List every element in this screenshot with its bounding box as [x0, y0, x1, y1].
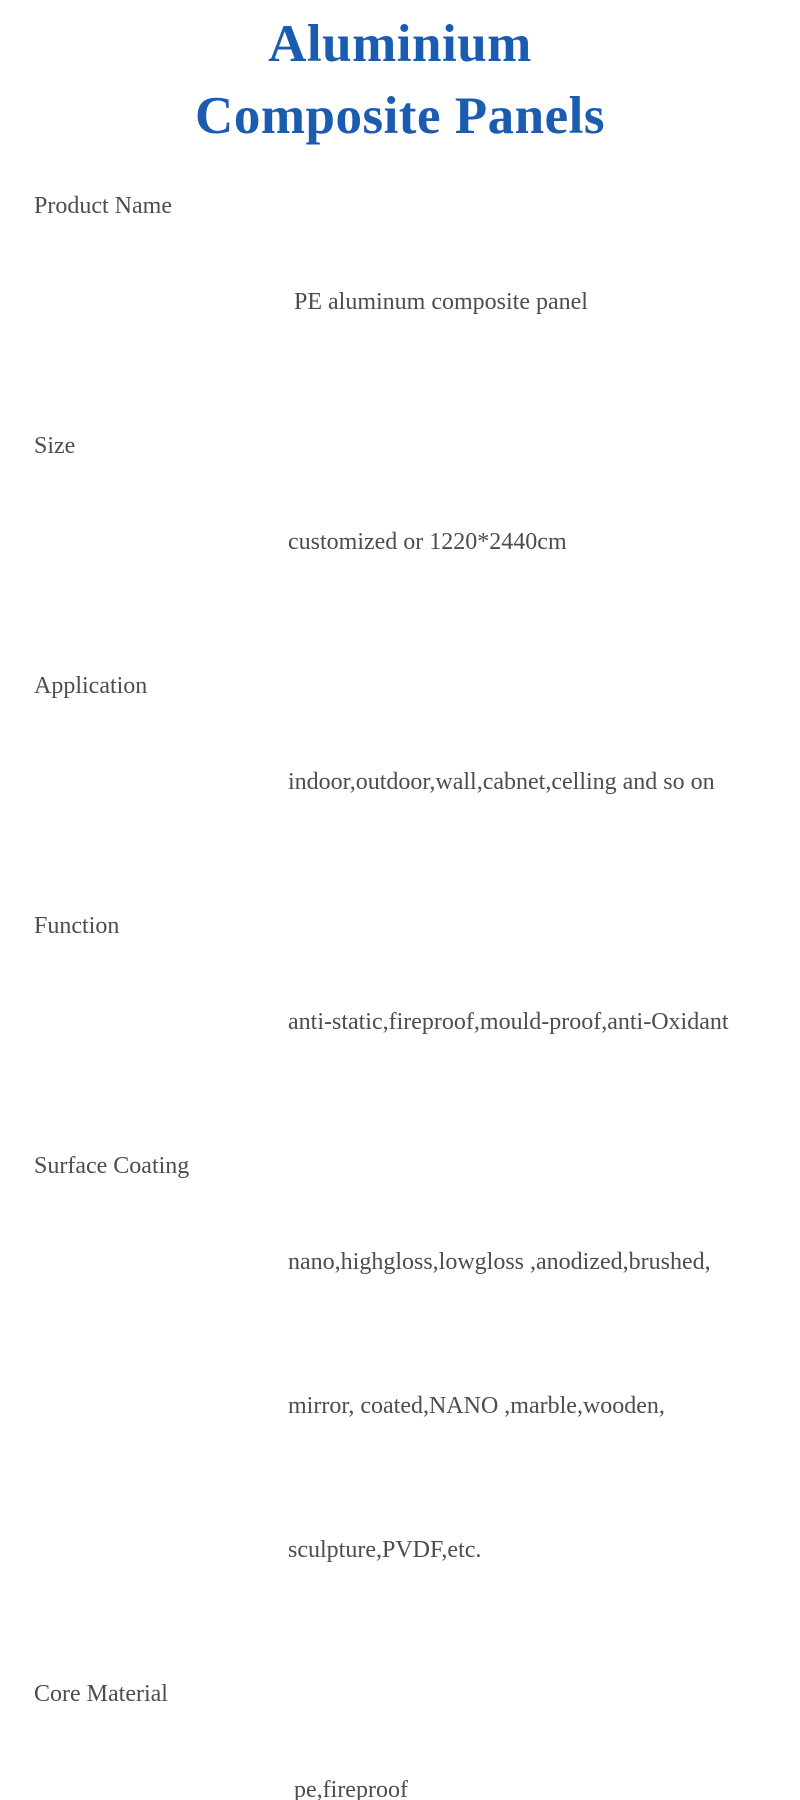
page-title-line-2: Composite Panels: [0, 80, 800, 152]
spec-label: Product Name: [0, 182, 288, 422]
spec-row: Application indoor,outdoor,wall,cabnet,c…: [0, 662, 800, 902]
spec-value: PE aluminum composite panel: [288, 182, 800, 422]
page-title: Aluminium Composite Panels: [0, 8, 800, 152]
spec-row: Core Material pe,fireproof: [0, 1670, 800, 1800]
spec-value: pe,fireproof: [288, 1670, 800, 1800]
spec-value: nano,highgloss,lowgloss ,anodized,brushe…: [288, 1142, 800, 1670]
spec-value-line: anti-static,fireproof,mould-proof,anti-O…: [288, 998, 800, 1046]
spec-value-line: PE aluminum composite panel: [288, 278, 800, 326]
spec-value-line: mirror, coated,NANO ,marble,wooden,: [288, 1382, 800, 1430]
spec-label: Surface Coating: [0, 1142, 288, 1670]
spec-label: Size: [0, 422, 288, 662]
spec-row: Function anti-static,fireproof,mould-pro…: [0, 902, 800, 1142]
spec-label: Application: [0, 662, 288, 902]
spec-value: indoor,outdoor,wall,cabnet,celling and s…: [288, 662, 800, 902]
spec-value-line: indoor,outdoor,wall,cabnet,celling and s…: [288, 758, 800, 806]
specification-table-body: Product Name PE aluminum composite panel…: [0, 182, 800, 1800]
page-title-line-1: Aluminium: [0, 8, 800, 80]
spec-label: Core Material: [0, 1670, 288, 1800]
spec-row: Surface Coating nano,highgloss,lowgloss …: [0, 1142, 800, 1670]
spec-value-line: sculpture,PVDF,etc.: [288, 1526, 800, 1574]
spec-row: Size customized or 1220*2440cm: [0, 422, 800, 662]
spec-value-line: customized or 1220*2440cm: [288, 518, 800, 566]
product-spec-page: Aluminium Composite Panels Product Name …: [0, 0, 800, 900]
specification-table: Product Name PE aluminum composite panel…: [0, 182, 800, 1800]
spec-value-line: pe,fireproof: [288, 1766, 800, 1800]
spec-value: anti-static,fireproof,mould-proof,anti-O…: [288, 902, 800, 1142]
spec-value: customized or 1220*2440cm: [288, 422, 800, 662]
spec-value-line: nano,highgloss,lowgloss ,anodized,brushe…: [288, 1238, 800, 1286]
spec-row: Product Name PE aluminum composite panel: [0, 182, 800, 422]
spec-label: Function: [0, 902, 288, 1142]
